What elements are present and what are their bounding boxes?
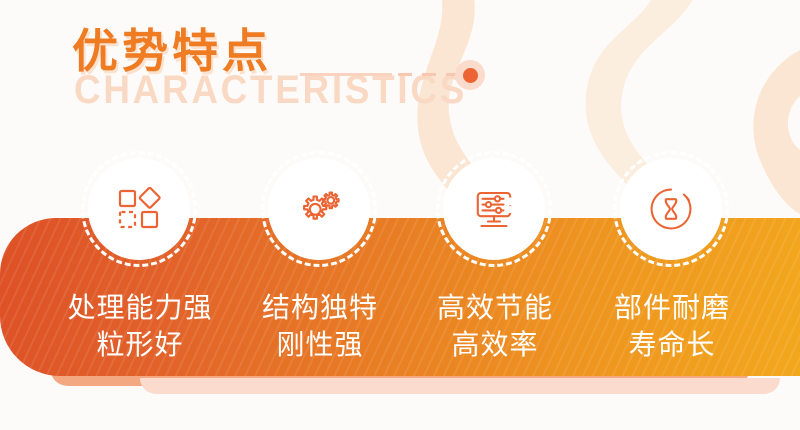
feature-circle-1[interactable] <box>88 158 190 260</box>
shapes-grid-icon <box>117 187 161 231</box>
icon-disc-4 <box>620 158 722 260</box>
feature-label-3-line2: 高效率 <box>395 327 595 364</box>
rule-dot <box>463 68 478 83</box>
banner-shadow-lower <box>140 378 780 394</box>
page-title: CHARACTERISTICS 优势特点 <box>72 28 272 74</box>
feature-label-3: 高效节能 高效率 <box>395 290 595 364</box>
gears-icon <box>296 187 342 231</box>
icon-disc-1 <box>88 158 190 260</box>
feature-label-1: 处理能力强 粒形好 <box>40 290 240 364</box>
icon-disc-2 <box>268 158 370 260</box>
settings-sliders-monitor-icon <box>471 187 517 231</box>
feature-label-4-line1: 部件耐磨 <box>614 292 730 323</box>
title-main-cn: 优势特点 <box>72 28 272 74</box>
feature-circle-2[interactable] <box>268 158 370 260</box>
feature-label-2: 结构独特 刚性强 <box>220 290 420 364</box>
feature-label-1-line2: 粒形好 <box>40 327 240 364</box>
feature-label-4-line2: 寿命长 <box>572 327 772 364</box>
hourglass-circle-icon <box>648 186 694 232</box>
wave-ribbon-corner <box>753 50 800 214</box>
title-rule-decoration <box>300 58 490 92</box>
icon-disc-3 <box>443 158 545 260</box>
feature-label-3-line1: 高效节能 <box>437 292 553 323</box>
feature-label-4: 部件耐磨 寿命长 <box>572 290 772 364</box>
feature-label-2-line2: 刚性强 <box>220 327 420 364</box>
promo-poster: CHARACTERISTICS 优势特点 <box>0 0 800 430</box>
rule-solid-segment <box>300 73 392 76</box>
feature-circle-4[interactable] <box>620 158 722 260</box>
feature-circle-3[interactable] <box>443 158 545 260</box>
feature-label-1-line1: 处理能力强 <box>67 292 212 323</box>
feature-label-2-line1: 结构独特 <box>262 292 378 323</box>
